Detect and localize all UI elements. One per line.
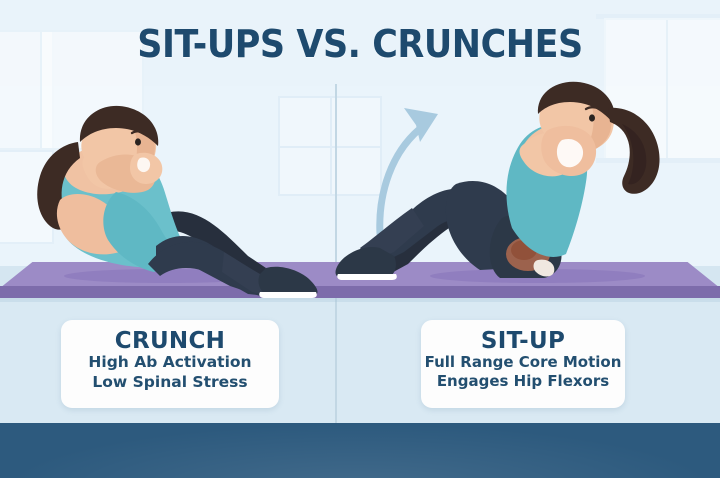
situp-card-title: SIT-UP xyxy=(421,329,625,353)
shoe-left-figure xyxy=(258,267,317,298)
bottom-bar xyxy=(0,423,720,478)
situp-card-line-1: Full Range Core Motion xyxy=(421,353,625,372)
situp-figure-illustration xyxy=(352,78,672,298)
situp-info-card: SIT-UP Full Range Core Motion Engages Hi… xyxy=(421,320,625,408)
situp-card-line-2: Engages Hip Flexors xyxy=(421,372,625,391)
bottom-bar-glow xyxy=(0,423,720,478)
infographic-canvas: SIT-UPS VS. CRUNCHES xyxy=(0,0,720,478)
page-title: SIT-UPS VS. CRUNCHES xyxy=(29,22,691,66)
crunch-card-line-2: Low Spinal Stress xyxy=(61,373,279,393)
crunch-figure-illustration xyxy=(8,96,338,296)
crunch-card-line-1: High Ab Activation xyxy=(61,353,279,373)
floor-shadow xyxy=(0,298,720,302)
crunch-info-card: CRUNCH High Ab Activation Low Spinal Str… xyxy=(61,320,279,408)
crunch-card-title: CRUNCH xyxy=(61,329,279,353)
